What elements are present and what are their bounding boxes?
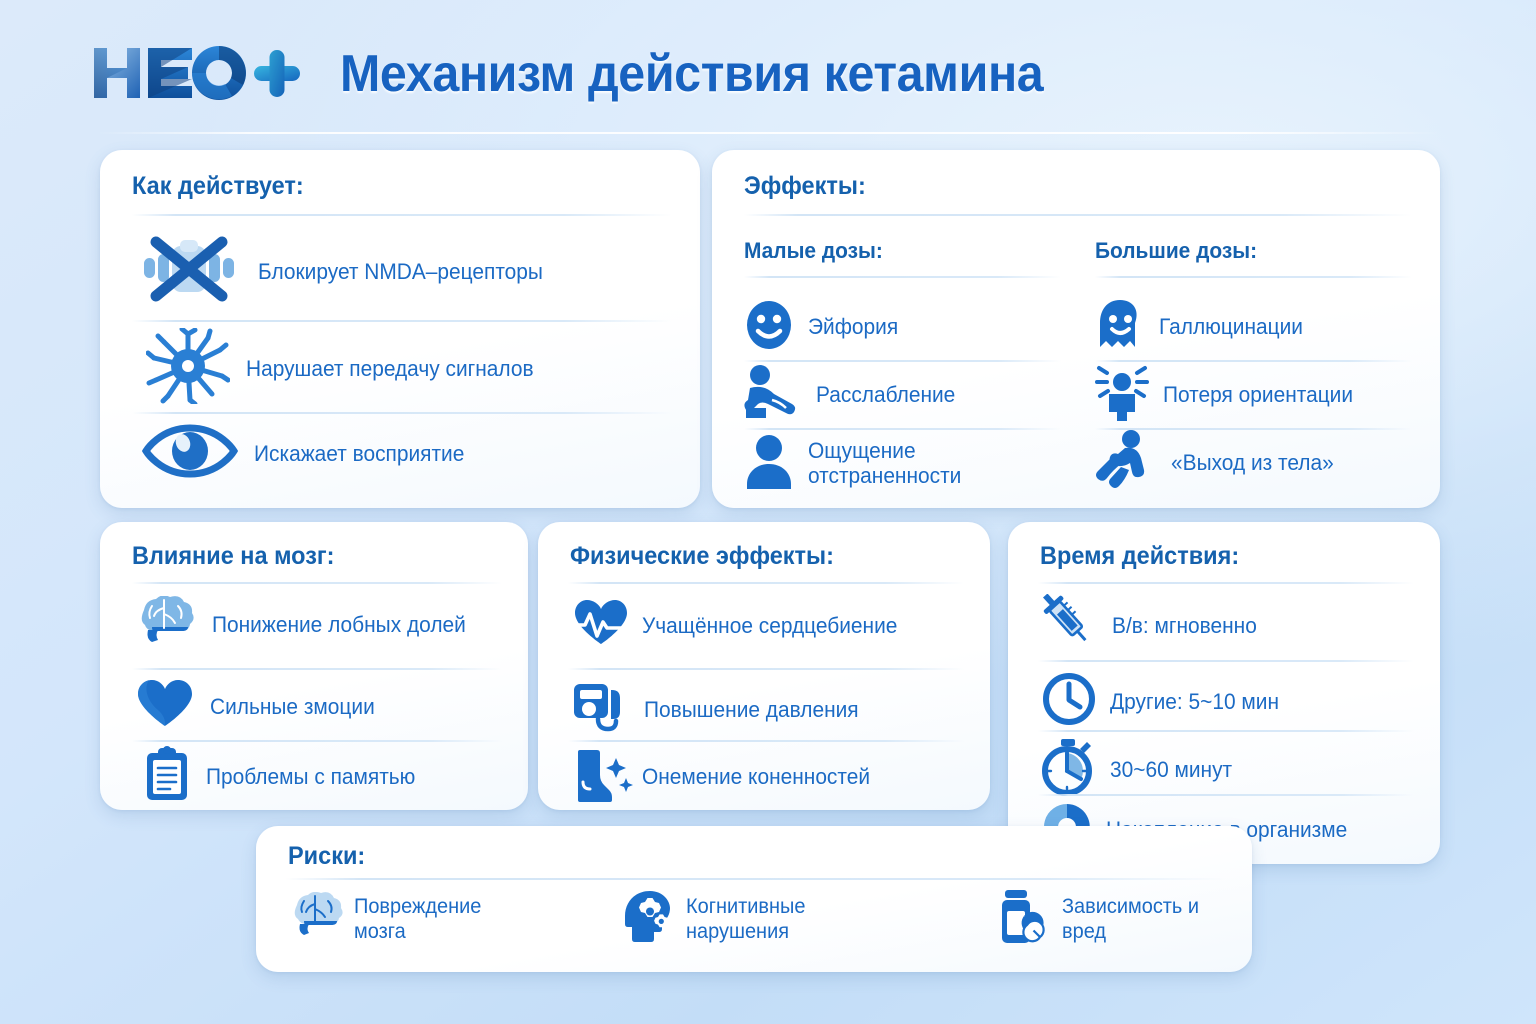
list-item[interactable]: Нарушает передачу сигналов (146, 328, 549, 409)
list-item-label: В/в: мгновенно (1112, 613, 1257, 638)
list-item[interactable]: Повышение давления (572, 678, 870, 741)
list-item[interactable]: «Выход из тела» (1095, 430, 1412, 496)
clock-icon (1042, 672, 1096, 731)
divider (1038, 794, 1414, 796)
page-title: Механизм действия кетамина (340, 44, 1043, 104)
ghost-icon (1095, 298, 1145, 357)
list-item-label: Искажает восприятие (254, 441, 464, 466)
eye-icon (142, 422, 238, 485)
list-item-label: Когнитивные нарушения (686, 895, 907, 943)
heart-icon (136, 678, 194, 735)
list-item-label: Расслабление (816, 382, 955, 407)
infographic-page: Механизм действия кетамина Как действует… (0, 0, 1536, 1024)
list-item[interactable]: Проблемы с памятью (144, 746, 426, 807)
syringe-icon (1042, 594, 1098, 657)
person-dizzy-icon (1095, 365, 1149, 426)
blood-pressure-monitor-icon (572, 678, 632, 741)
divider (744, 214, 1412, 216)
card-title-how: Как действует: (132, 172, 640, 201)
list-item[interactable]: Учащённое сердцебиение (572, 598, 911, 653)
list-item-label: Другие: 5~10 мин (1110, 689, 1279, 714)
divider (132, 668, 502, 670)
list-item-label: Сильные змоции (210, 694, 375, 719)
neuron-icon (146, 328, 230, 409)
effects-column-low-doses: Малые дозы: Эйфория (744, 238, 1061, 496)
divider (286, 878, 1226, 880)
list-item[interactable]: Галлюцинации (1095, 294, 1412, 360)
brain-damage-icon (288, 892, 344, 947)
list-item-label: Повышение давления (644, 697, 859, 722)
divider (132, 740, 502, 742)
list-item-label: 30~60 минут (1110, 757, 1232, 782)
heart-pulse-icon (572, 598, 630, 653)
list-item[interactable]: Блокирует NMDA–рецепторы (136, 236, 558, 307)
header-divider (96, 132, 1440, 134)
numb-foot-icon (572, 746, 634, 807)
subtitle-high-doses: Большие дозы: (1095, 238, 1396, 264)
list-item[interactable]: Искажает восприятие (142, 422, 475, 485)
list-item[interactable]: Онемение коненностей (572, 746, 882, 807)
list-item[interactable]: Ощущение отстраненности (744, 430, 1061, 496)
brain-icon (134, 596, 196, 653)
list-item[interactable]: Сильные змоции (136, 678, 383, 735)
card-how-it-works: Как действует: Блокирует NMDA–рецепторы (100, 150, 700, 508)
list-item[interactable]: В/в: мгновенно (1042, 594, 1264, 657)
divider (1038, 730, 1414, 732)
list-item-label: Блокирует NMDA–рецепторы (258, 259, 543, 284)
divider (132, 582, 502, 584)
list-item[interactable]: Повреждение мозга (288, 892, 542, 947)
card-brain-impact: Влияние на мозг: Понижение лобных долей (100, 522, 528, 810)
pill-bottle-icon (998, 889, 1052, 950)
card-title-risks: Риски: (288, 842, 1168, 871)
divider (568, 582, 964, 584)
list-item-label: Эйфория (808, 314, 898, 339)
card-title-effects: Эффекты: (744, 172, 1372, 201)
list-item-label: Учащённое сердцебиение (642, 613, 897, 638)
smiley-face-icon (744, 299, 794, 356)
clipboard-icon (144, 746, 190, 807)
nmda-receptor-blocked-icon (136, 236, 242, 307)
divider (132, 214, 672, 216)
divider (568, 740, 964, 742)
card-title-time: Время действия: (1040, 542, 1390, 571)
list-item-label: Онемение коненностей (642, 764, 870, 789)
card-physical-effects: Физические эффекты: Учащённое сердцебиен… (538, 522, 990, 810)
effects-column-high-doses: Большие дозы: Галлюцинации (1095, 238, 1412, 496)
list-item-label: «Выход из тела» (1171, 450, 1334, 475)
neo-plus-logo (92, 42, 300, 104)
list-item[interactable]: Зависимость и вред (998, 889, 1252, 950)
divider (132, 320, 672, 322)
list-item[interactable]: Понижение лобных долей (134, 596, 479, 653)
stopwatch-icon (1040, 738, 1096, 801)
list-item-label: Галлюцинации (1159, 314, 1303, 339)
list-item[interactable]: Когнитивные нарушения (620, 888, 919, 951)
list-item-label: Повреждение мозга (354, 895, 533, 943)
list-item-label: Понижение лобных долей (212, 612, 466, 637)
card-duration: Время действия: В/в: мгновенно (1008, 522, 1440, 864)
card-title-physical: Физические эффекты: (570, 542, 938, 571)
person-silhouette-icon (744, 433, 794, 494)
header: Механизм действия кетамина (0, 0, 1536, 142)
list-item[interactable]: Потеря ориентации (1095, 362, 1412, 428)
list-item[interactable]: Другие: 5~10 мин (1042, 672, 1288, 731)
divider (1038, 660, 1414, 662)
list-item-label: Нарушает передачу сигналов (246, 356, 534, 381)
divider (1038, 582, 1414, 584)
list-item-label: Ощущение отстраненности (808, 438, 961, 489)
list-item[interactable]: 30~60 минут (1040, 738, 1239, 801)
person-reclining-icon (744, 364, 802, 427)
card-risks: Риски: Повреждение мозга (256, 826, 1252, 972)
list-item[interactable]: Эйфория (744, 294, 1061, 360)
head-gears-icon (620, 888, 676, 951)
divider (132, 412, 672, 414)
list-item-label: Зависимость и вред (1062, 895, 1243, 943)
list-item[interactable]: Расслабление (744, 362, 1061, 428)
subtitle-low-doses: Малые дозы: (744, 238, 1045, 264)
card-title-brain: Влияние на мозг: (132, 542, 478, 571)
list-item-label: Проблемы с памятью (206, 764, 415, 789)
card-effects: Эффекты: Малые дозы: (712, 150, 1440, 508)
person-floating-icon (1095, 430, 1157, 497)
list-item-label: Потеря ориентации (1163, 382, 1353, 407)
divider (568, 668, 964, 670)
